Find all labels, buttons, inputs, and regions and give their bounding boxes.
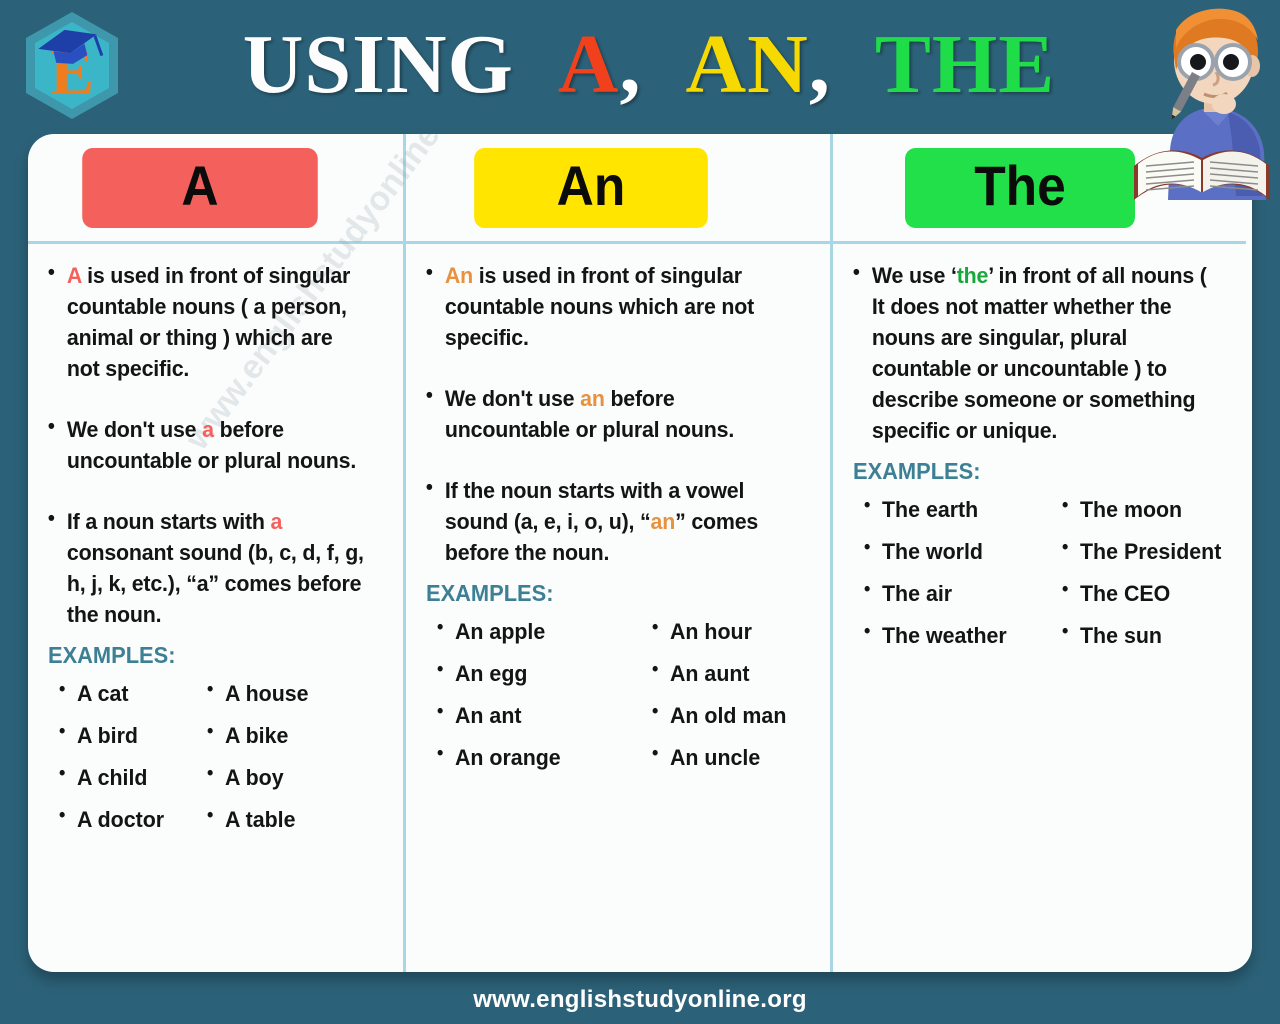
column-an: An An is used in front of singular count…: [403, 134, 833, 972]
rule-item: We don't use an before uncountable or pl…: [424, 383, 795, 445]
example-item: The President: [1061, 531, 1221, 573]
infographic-page: E USING A, AN, THE: [0, 0, 1280, 1024]
rule-item: If a noun starts with a consonant sound …: [46, 506, 370, 630]
title-comma-1: ,: [620, 18, 642, 111]
example-item: The sun: [1061, 615, 1221, 657]
column-the-examples: The earth The world The air The weather …: [851, 489, 1230, 656]
site-logo: E: [18, 8, 126, 123]
column-a-rules: A is used in front of singular countable…: [46, 260, 387, 630]
examples-column-2: The moon The President The CEO The sun: [1061, 489, 1230, 656]
column-the-pill-label: The: [905, 148, 1135, 228]
title-word-a: A: [558, 18, 620, 111]
column-the-body: We use ‘the’ in front of all nouns ( It …: [833, 244, 1246, 972]
rule-text: We don't use: [445, 386, 580, 411]
example-item: An old man: [651, 695, 786, 737]
title-word-an: AN: [686, 18, 809, 111]
rule-highlight: a: [202, 417, 214, 442]
rule-highlight: A: [67, 263, 81, 288]
example-item: A bird: [58, 715, 199, 757]
column-an-rules: An is used in front of singular countabl…: [424, 260, 814, 568]
rule-item: We don't use a before uncountable or plu…: [46, 414, 370, 476]
example-item: An ant: [436, 695, 640, 737]
examples-column-1: The earth The world The air The weather: [863, 489, 1061, 656]
rule-highlight: an: [580, 386, 605, 411]
column-a: A A is used in front of singular countab…: [28, 134, 403, 972]
rule-item: If the noun starts with a vowel sound (a…: [424, 475, 795, 568]
column-a-pill-label: A: [82, 148, 318, 228]
rule-highlight: An: [445, 263, 473, 288]
examples-column-2: A house A bike A boy A table: [206, 673, 314, 840]
title-comma-2: ,: [809, 18, 831, 111]
example-item: The weather: [863, 615, 1051, 657]
title-word-the: THE: [875, 18, 1055, 111]
column-the-header: The: [833, 134, 1246, 244]
rule-text: ’ in front of all nouns ( It does not ma…: [872, 263, 1207, 443]
column-the-examples-label: EXAMPLES:: [853, 458, 1211, 485]
column-a-examples-label: EXAMPLES:: [48, 642, 370, 669]
header-banner: E USING A, AN, THE: [0, 0, 1280, 130]
rule-text: is used in front of singular countable n…: [67, 263, 350, 381]
examples-column-1: An apple An egg An ant An orange: [436, 611, 651, 778]
example-item: The earth: [863, 489, 1051, 531]
rule-text: We don't use: [67, 417, 202, 442]
example-item: A child: [58, 757, 199, 799]
example-item: An orange: [436, 737, 640, 779]
column-a-header: A: [28, 134, 403, 244]
rule-highlight: a: [271, 509, 283, 534]
rule-text: If a noun starts with: [67, 509, 271, 534]
content-card: www.englishstudyonline.org A A is used i…: [28, 134, 1252, 972]
column-an-body: An is used in front of singular countabl…: [406, 244, 830, 972]
rule-item: We use ‘the’ in front of all nouns ( It …: [851, 260, 1211, 446]
example-item: The CEO: [1061, 573, 1221, 615]
rule-text: consonant sound (b, c, d, f, g, h, j, k,…: [67, 540, 364, 627]
rule-highlight: an: [651, 509, 676, 534]
column-the-rules: We use ‘the’ in front of all nouns ( It …: [851, 260, 1230, 446]
rule-text: We use ‘: [872, 263, 957, 288]
page-title: USING A, AN, THE: [243, 23, 1055, 107]
rule-highlight: the: [957, 263, 988, 288]
example-item: A bike: [206, 715, 309, 757]
example-item: A table: [206, 799, 309, 841]
example-item: An uncle: [651, 737, 786, 779]
column-an-pill-label: An: [474, 148, 708, 228]
rule-item: A is used in front of singular countable…: [46, 260, 370, 384]
title-word-using: USING: [243, 18, 514, 111]
example-item: The air: [863, 573, 1051, 615]
example-item: An apple: [436, 611, 640, 653]
examples-column-1: A cat A bird A child A doctor: [58, 673, 206, 840]
example-item: An hour: [651, 611, 786, 653]
rule-text: is used in front of singular countable n…: [445, 263, 754, 350]
column-a-body: A is used in front of singular countable…: [28, 244, 403, 972]
column-the: The We use ‘the’ in front of all nouns (…: [833, 134, 1246, 972]
example-item: A cat: [58, 673, 199, 715]
examples-column-2: An hour An aunt An old man An uncle: [651, 611, 794, 778]
rule-item: An is used in front of singular countabl…: [424, 260, 795, 353]
example-item: The moon: [1061, 489, 1221, 531]
example-item: An egg: [436, 653, 640, 695]
example-item: The world: [863, 531, 1051, 573]
example-item: A boy: [206, 757, 309, 799]
column-an-examples-label: EXAMPLES:: [426, 580, 795, 607]
example-item: A house: [206, 673, 309, 715]
example-item: A doctor: [58, 799, 199, 841]
column-an-header: An: [406, 134, 830, 244]
example-item: An aunt: [651, 653, 786, 695]
column-a-examples: A cat A bird A child A doctor A house A …: [46, 673, 387, 840]
footer-website[interactable]: www.englishstudyonline.org: [0, 986, 1280, 1014]
column-an-examples: An apple An egg An ant An orange An hour…: [424, 611, 814, 778]
